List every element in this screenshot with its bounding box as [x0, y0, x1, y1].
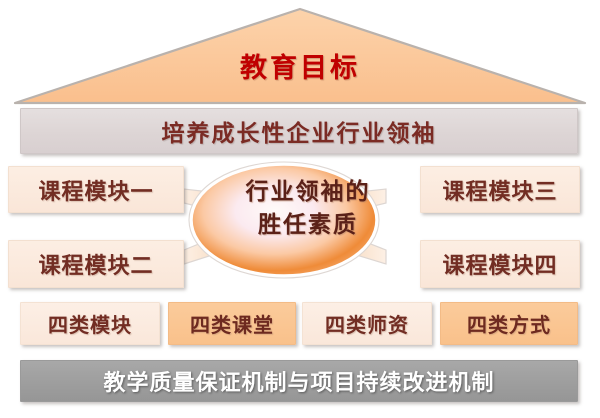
category-box-classrooms[interactable]: 四类课堂	[168, 302, 296, 345]
connector-wedges-icon	[150, 158, 420, 286]
headline-bar: 培养成长性企业行业领袖	[20, 108, 578, 154]
category-box-faculty[interactable]: 四类师资	[302, 302, 432, 345]
course-module-2[interactable]: 课程模块二	[8, 240, 184, 288]
category-box-modules[interactable]: 四类模块	[20, 302, 160, 345]
footer-bar: 教学质量保证机制与项目持续改进机制	[20, 360, 578, 402]
hub-connector-layer: 行业领袖的 胜任素质	[150, 158, 420, 286]
education-goal-diagram: 教育目标 培养成长性企业行业领袖	[0, 0, 600, 418]
roof-title: 教育目标	[0, 46, 600, 85]
course-module-4[interactable]: 课程模块四	[420, 240, 580, 288]
course-module-1[interactable]: 课程模块一	[8, 166, 184, 213]
roof-shape: 教育目标	[0, 0, 600, 108]
course-module-3[interactable]: 课程模块三	[420, 166, 580, 213]
category-box-methods[interactable]: 四类方式	[440, 302, 578, 345]
